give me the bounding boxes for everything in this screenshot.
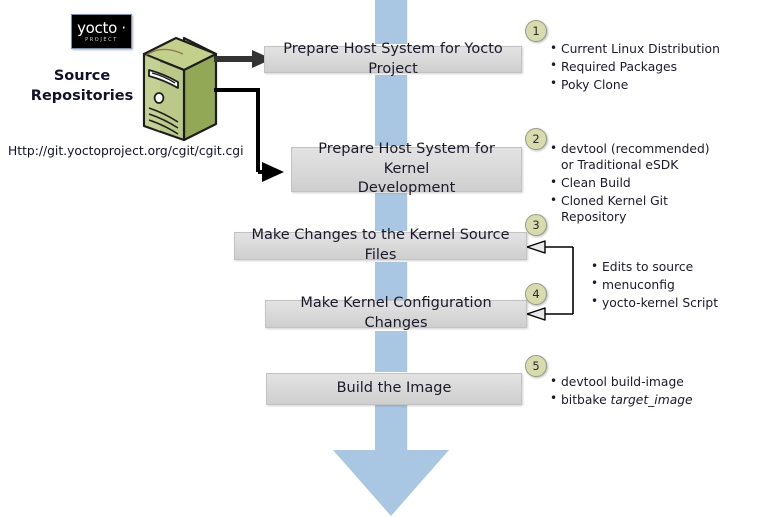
step-5-bullet-2-italic: target_image <box>611 393 693 407</box>
step-2-bullets: devtool (recommended) or Traditional eSD… <box>548 141 724 227</box>
steps-3-4-shared-bullets: Edits to source menuconfig yocto-kernel … <box>589 259 769 313</box>
step-circle-1-number: 1 <box>532 24 539 38</box>
source-label-line-2: Repositories <box>22 86 142 106</box>
step-circle-5: 5 <box>525 355 547 377</box>
source-repository-url: Http://git.yoctoproject.org/cgit/cgit.cg… <box>8 144 244 158</box>
flow-spine-segment-1 <box>375 0 407 44</box>
process-box-step-5[interactable]: Build the Image <box>266 373 522 405</box>
step-5-bullet-1: devtool build-image <box>561 375 684 389</box>
step-2-bullet-1: devtool (recommended) or Traditional eSD… <box>561 142 710 172</box>
step-2-bullet-3: Cloned Kernel Git Repository <box>561 194 668 224</box>
step-5-bullet-2: bitbake <box>561 393 611 407</box>
step-circle-1: 1 <box>525 20 547 42</box>
step-circle-3: 3 <box>525 214 547 236</box>
process-box-step-1-line-1: Prepare Host System for Yocto Project <box>273 40 513 79</box>
step-1-bullet-2: Required Packages <box>561 60 677 74</box>
step-1-bullet-1: Current Linux Distribution <box>561 42 720 56</box>
yocto-logo-wordmark: yocto · <box>77 21 126 36</box>
list-item: Required Packages <box>561 59 758 75</box>
yocto-logo: yocto · PROJECT <box>71 14 132 49</box>
list-item: Current Linux Distribution <box>561 41 758 57</box>
process-box-step-4[interactable]: Make Kernel Configuration Changes <box>265 300 527 328</box>
process-box-step-3-line-1: Make Changes to the Kernel Source Files <box>243 226 518 265</box>
process-box-step-2[interactable]: Prepare Host System for Kernel Developme… <box>291 147 522 192</box>
shared-bullet-3: yocto-kernel Script <box>602 296 718 310</box>
step-circle-5-number: 5 <box>532 359 539 373</box>
step-1-bullets: Current Linux Distribution Required Pack… <box>548 41 758 95</box>
list-item: Cloned Kernel Git Repository <box>561 193 724 226</box>
source-repositories-label: Source Repositories <box>22 66 142 107</box>
list-item: Poky Clone <box>561 77 758 93</box>
process-box-step-3[interactable]: Make Changes to the Kernel Source Files <box>234 232 527 260</box>
step-1-bullet-3: Poky Clone <box>561 78 628 92</box>
step-circle-3-number: 3 <box>532 218 539 232</box>
yocto-logo-subtext: PROJECT <box>85 38 118 43</box>
step-circle-4-number: 4 <box>532 287 539 301</box>
diagram-canvas: yocto · PROJECT Source Repositories Http… <box>0 0 769 517</box>
process-box-step-2-line-2: Development <box>358 179 456 199</box>
list-item: devtool build-image <box>561 374 748 390</box>
step-circle-2: 2 <box>525 128 547 150</box>
list-item: bitbake target_image <box>561 392 748 408</box>
flow-spine-segment-2 <box>375 75 407 146</box>
shared-bullet-1: Edits to source <box>602 260 693 274</box>
process-box-step-2-line-1: Prepare Host System for Kernel <box>300 140 513 179</box>
flow-spine-segment-5 <box>375 331 407 372</box>
flow-spine-segment-6 <box>375 405 407 452</box>
shared-bullet-2: menuconfig <box>602 278 675 292</box>
step-5-bullets: devtool build-image bitbake target_image <box>548 374 748 410</box>
step-circle-2-number: 2 <box>532 132 539 146</box>
list-item: yocto-kernel Script <box>602 295 769 311</box>
source-label-line-1: Source <box>22 66 142 86</box>
process-box-step-4-line-1: Make Kernel Configuration Changes <box>274 294 518 333</box>
flow-arrow-head <box>333 450 449 516</box>
list-item: menuconfig <box>602 277 769 293</box>
server-tower-icon <box>128 30 220 145</box>
process-box-step-1[interactable]: Prepare Host System for Yocto Project <box>264 46 522 73</box>
process-box-step-5-line-1: Build the Image <box>337 379 452 399</box>
step-circle-4: 4 <box>525 283 547 305</box>
list-item: Clean Build <box>561 175 724 191</box>
list-item: Edits to source <box>602 259 769 275</box>
list-item: devtool (recommended) or Traditional eSD… <box>561 141 724 174</box>
step-2-bullet-2: Clean Build <box>561 176 631 190</box>
